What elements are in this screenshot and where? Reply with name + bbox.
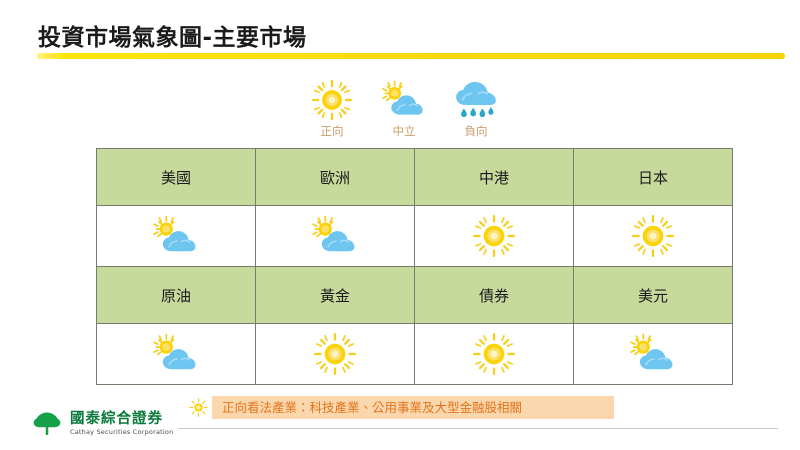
sun-behind-cloud-icon xyxy=(256,207,414,265)
rain-cloud-icon xyxy=(440,78,512,122)
sun-behind-cloud-icon xyxy=(368,78,440,122)
sun-behind-cloud-icon xyxy=(97,207,255,265)
legend-item-neutral: 中立 xyxy=(368,78,440,138)
company-logo: 國泰綜合證券 Cathay Securities Corporation xyxy=(30,408,173,440)
page-header: 投資市場氣象圖-主要市場 xyxy=(0,0,800,62)
sun-icon xyxy=(574,207,732,265)
sun-icon xyxy=(188,398,208,418)
tree-icon xyxy=(30,408,64,440)
market-outlook-table: 美國 歐洲 中港 日本 xyxy=(96,148,733,385)
logo-company-cn: 國泰綜合證券 xyxy=(70,411,173,427)
logo-company-en: Cathay Securities Corporation xyxy=(70,428,173,437)
market-label-cell: 美元 xyxy=(574,267,733,324)
title-underline-rule xyxy=(37,53,785,59)
note-banner: 正向看法產業：科技產業、公用事業及大型金融股相關 xyxy=(212,396,614,419)
outlook-cell xyxy=(97,206,256,267)
market-label-cell: 債券 xyxy=(415,267,574,324)
market-label-cell: 美國 xyxy=(97,149,256,206)
outlook-cell xyxy=(415,206,574,267)
sun-behind-cloud-icon xyxy=(97,325,255,383)
footer-divider xyxy=(178,428,778,429)
outlook-cell xyxy=(256,324,415,385)
outlook-cell xyxy=(256,206,415,267)
outlook-cell xyxy=(97,324,256,385)
table-row xyxy=(97,206,733,267)
outlook-cell xyxy=(415,324,574,385)
market-label-cell: 黃金 xyxy=(256,267,415,324)
market-label-cell: 日本 xyxy=(574,149,733,206)
sun-icon xyxy=(256,325,414,383)
outlook-cell xyxy=(574,206,733,267)
outlook-cell xyxy=(574,324,733,385)
table-row xyxy=(97,324,733,385)
market-label-cell: 歐洲 xyxy=(256,149,415,206)
market-label-cell: 原油 xyxy=(97,267,256,324)
sun-icon xyxy=(296,78,368,122)
legend-item-negative: 負向 xyxy=(440,78,512,138)
table-row: 美國 歐洲 中港 日本 xyxy=(97,149,733,206)
legend-item-positive: 正向 xyxy=(296,78,368,138)
logo-text: 國泰綜合證券 Cathay Securities Corporation xyxy=(70,411,173,437)
market-label-cell: 中港 xyxy=(415,149,574,206)
legend-label-neutral: 中立 xyxy=(368,124,440,138)
sun-behind-cloud-icon xyxy=(574,325,732,383)
page-title: 投資市場氣象圖-主要市場 xyxy=(38,18,307,52)
table-row: 原油 黃金 債券 美元 xyxy=(97,267,733,324)
sun-icon xyxy=(415,325,573,383)
note-text: 正向看法產業：科技產業、公用事業及大型金融股相關 xyxy=(222,396,522,419)
legend-label-negative: 負向 xyxy=(440,124,512,138)
legend-label-positive: 正向 xyxy=(296,124,368,138)
legend: 正向 xyxy=(296,78,512,144)
sun-icon xyxy=(415,207,573,265)
positive-sectors-note: 正向看法產業：科技產業、公用事業及大型金融股相關 xyxy=(188,396,614,419)
